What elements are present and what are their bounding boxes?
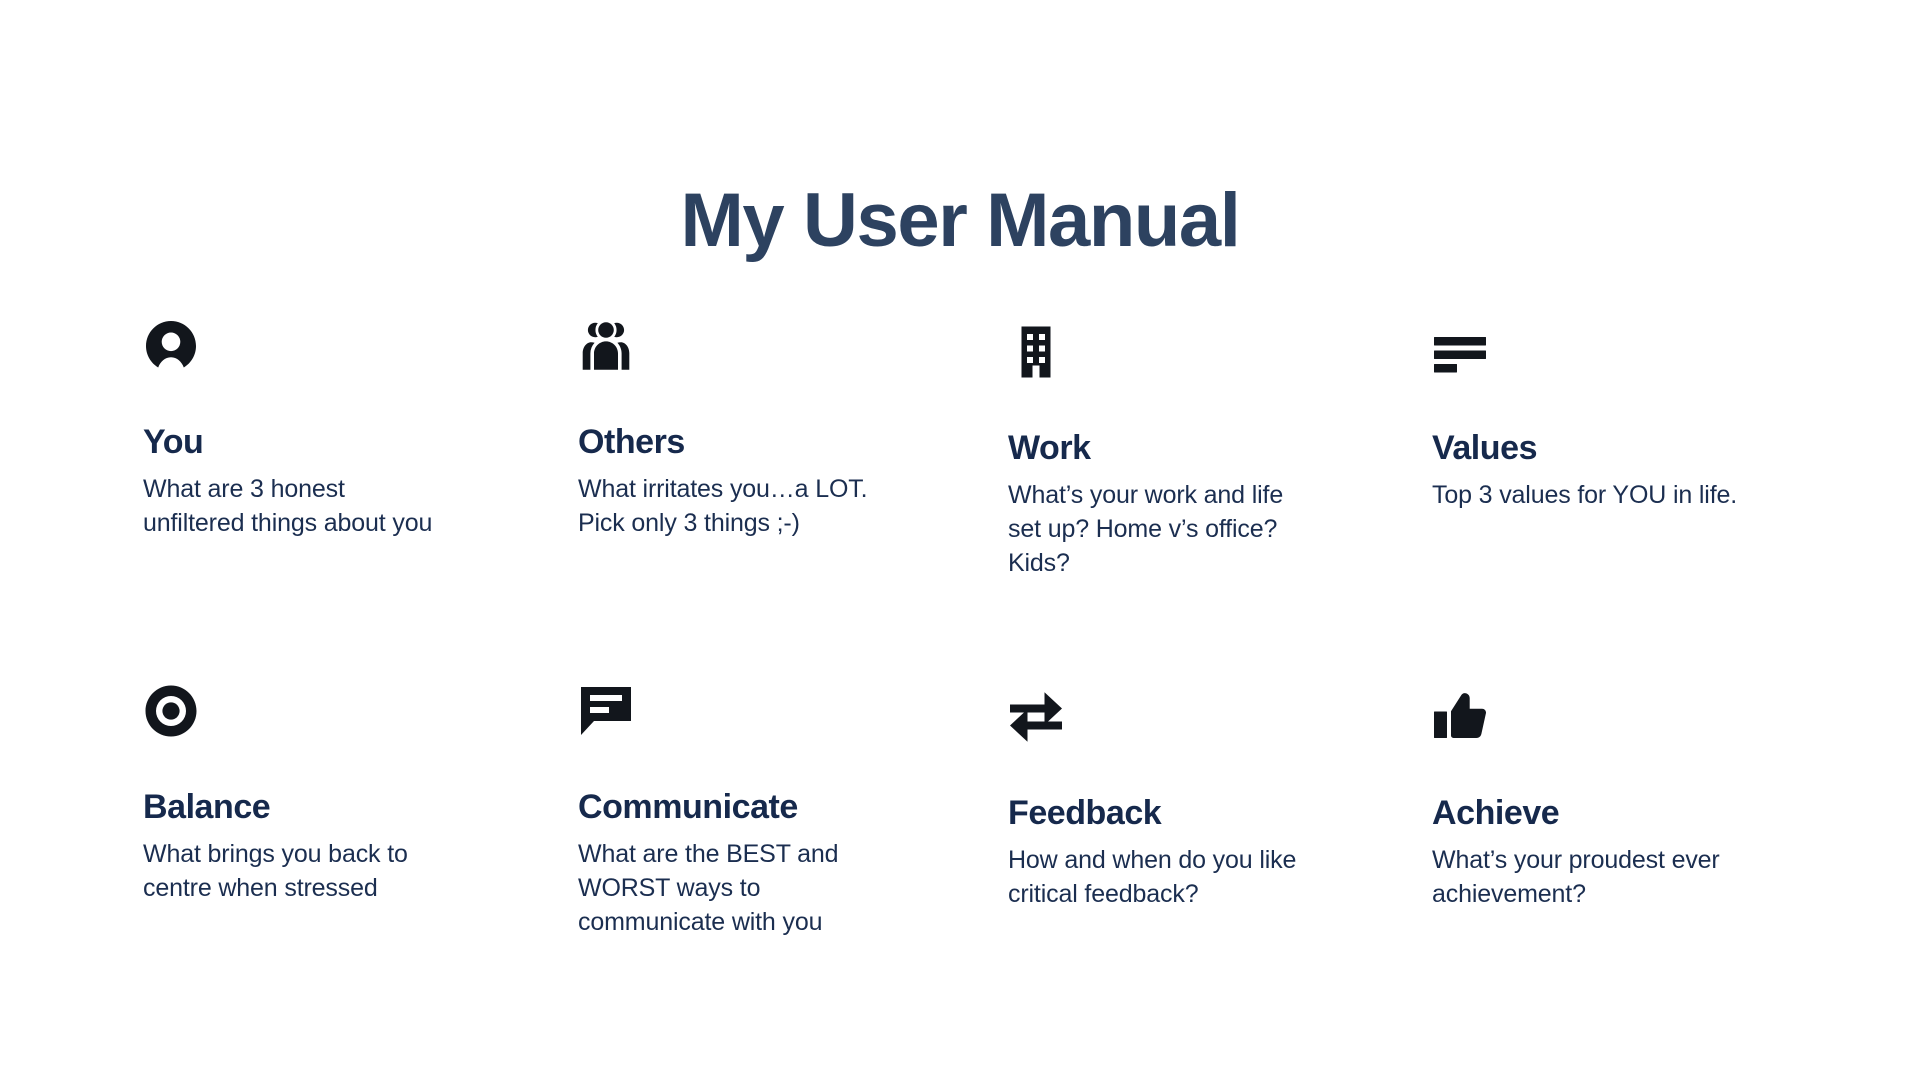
card-title: Balance: [143, 787, 554, 827]
thumbs-up-icon: [1432, 689, 1779, 745]
card-others: Others What irritates you…a LOT. Pick on…: [578, 318, 1008, 683]
card-title: Work: [1008, 428, 1408, 468]
manual-card-grid: You What are 3 honest unfiltered things …: [143, 318, 1803, 939]
card-title: Values: [1432, 428, 1779, 468]
group-people-icon: [578, 318, 984, 374]
card-body: What’s your proudest ever achievement?: [1432, 843, 1762, 911]
list-bars-icon: [1432, 324, 1779, 380]
card-title: Communicate: [578, 787, 984, 827]
card-body: What irritates you…a LOT. Pick only 3 th…: [578, 472, 908, 540]
card-body: What are 3 honest unfiltered things abou…: [143, 472, 473, 540]
card-title: You: [143, 422, 554, 462]
card-body: What are the BEST and WORST ways to comm…: [578, 837, 918, 939]
card-values: Values Top 3 values for YOU in life.: [1432, 318, 1803, 683]
user-manual-page: My User Manual You What are 3 honest unf…: [0, 0, 1920, 1080]
card-balance: Balance What brings you back to centre w…: [143, 683, 578, 939]
card-title: Feedback: [1008, 793, 1408, 833]
card-feedback: Feedback How and when do you like critic…: [1008, 683, 1432, 939]
card-title: Others: [578, 422, 984, 462]
target-bullseye-icon: [143, 683, 554, 739]
card-you: You What are 3 honest unfiltered things …: [143, 318, 578, 683]
card-body: What’s your work and life set up? Home v…: [1008, 478, 1338, 580]
person-circle-icon: [143, 318, 554, 374]
office-building-icon: [1008, 324, 1408, 380]
card-body: What brings you back to centre when stre…: [143, 837, 473, 905]
card-achieve: Achieve What’s your proudest ever achiev…: [1432, 683, 1803, 939]
exchange-arrows-icon: [1008, 689, 1408, 745]
card-title: Achieve: [1432, 793, 1779, 833]
card-body: Top 3 values for YOU in life.: [1432, 478, 1762, 512]
speech-bubble-icon: [578, 683, 984, 739]
card-body: How and when do you like critical feedba…: [1008, 843, 1338, 911]
card-communicate: Communicate What are the BEST and WORST …: [578, 683, 1008, 939]
card-work: Work What’s your work and life set up? H…: [1008, 318, 1432, 683]
page-title: My User Manual: [0, 179, 1920, 263]
